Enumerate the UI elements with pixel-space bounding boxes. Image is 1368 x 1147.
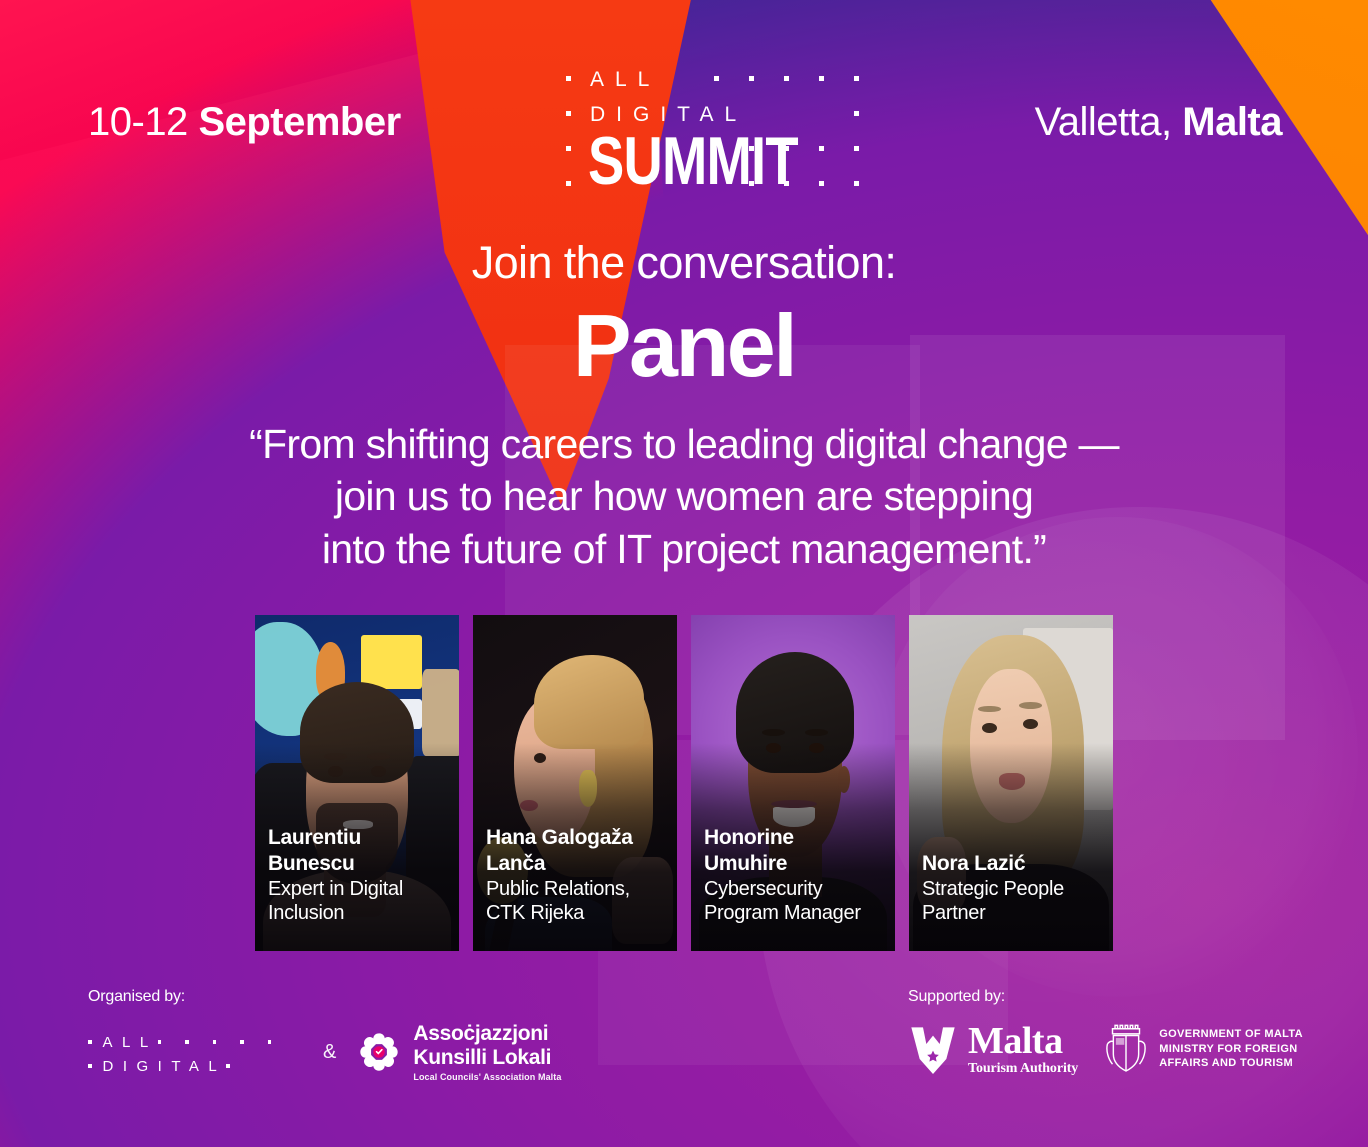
panel-quote-line-3: into the future of IT project management… <box>124 523 1244 575</box>
poster-header: 10-12 September Valletta, Malta <box>0 0 1368 215</box>
speaker-name-line-1: Honorine <box>704 826 885 850</box>
logo-dot <box>566 111 571 116</box>
speaker-card-list: Laurentiu Bunescu Expert in Digital Incl… <box>255 615 1113 951</box>
speaker-role-line-2: CTK Rijeka <box>486 901 667 925</box>
speaker-name-line-2: Lanča <box>486 852 667 876</box>
logo-dot <box>854 146 859 151</box>
akl-logo-line-2: Kunsilli Lokali <box>413 1046 561 1070</box>
summit-panel-poster: 10-12 September Valletta, Malta <box>0 0 1368 1147</box>
ampersand-separator: & <box>319 1041 340 1064</box>
logo-text-digital: DIGITAL <box>590 104 747 125</box>
logo-dot <box>714 76 719 81</box>
speaker-card[interactable]: Hana Galogaža Lanča Public Relations, CT… <box>473 615 677 951</box>
akl-logo-tagline: Local Councils' Association Malta <box>413 1072 561 1082</box>
logo-dot <box>158 1040 162 1044</box>
pinwheel-icon <box>356 1029 402 1075</box>
panel-quote-line-2: join us to hear how women are stepping <box>124 470 1244 522</box>
logo-dot <box>566 146 571 151</box>
akl-logo-line-1: Assoċjazzjoni <box>413 1022 561 1046</box>
speaker-card[interactable]: Nora Lazić Strategic People Partner <box>909 615 1113 951</box>
speaker-caption: Honorine Umuhire Cybersecurity Program M… <box>704 826 885 925</box>
logo-line-all: ALL <box>590 66 660 92</box>
logo-dot <box>819 146 824 151</box>
footer-supporters: Supported by: Malta Tourism Authority <box>908 988 1308 1076</box>
speaker-name-line-1: Hana Galogaža <box>486 826 667 850</box>
coat-of-arms-icon <box>1104 1022 1148 1076</box>
logo-dot <box>566 181 571 186</box>
speaker-role-line-2: Inclusion <box>268 901 449 925</box>
speaker-role-line-1: Cybersecurity <box>704 877 885 901</box>
logo-dot <box>240 1040 244 1044</box>
speaker-caption: Laurentiu Bunescu Expert in Digital Incl… <box>268 826 449 925</box>
logo-dot <box>88 1040 92 1044</box>
headline-kicker: Join the conversation: <box>472 237 897 289</box>
speaker-name-line-1: Nora Lazić <box>922 852 1103 876</box>
speaker-caption: Hana Galogaža Lanča Public Relations, CT… <box>486 826 667 925</box>
speaker-card[interactable]: Honorine Umuhire Cybersecurity Program M… <box>691 615 895 951</box>
speaker-name-line-1: Laurentiu <box>268 826 449 850</box>
supported-by-label: Supported by: <box>908 988 1308 1006</box>
logo-dot <box>854 181 859 186</box>
gov-logo-line-2: MINISTRY FOR FOREIGN <box>1159 1042 1303 1057</box>
speaker-role-line-1: Expert in Digital <box>268 877 449 901</box>
gov-logo-line-3: AFFAIRS AND TOURISM <box>1159 1056 1303 1071</box>
page-title: Panel <box>573 300 795 392</box>
maltese-emblem-icon <box>908 1022 958 1076</box>
logo-dot <box>268 1040 272 1044</box>
logo-dot <box>226 1064 230 1068</box>
panel-quote-line-1: “From shifting careers to leading digita… <box>124 418 1244 470</box>
logo-dot <box>749 76 754 81</box>
logo-text-digital: DIGITAL <box>103 1059 227 1074</box>
event-dates-month: September <box>198 100 400 144</box>
akl-logo: Assoċjazzjoni Kunsilli Lokali Local Coun… <box>356 1022 561 1082</box>
event-location-city: Valletta, <box>1035 100 1172 144</box>
logo-text-all: ALL <box>590 69 660 90</box>
all-digital-logo-small: ALL DIGITAL <box>88 1026 303 1078</box>
logo-dot <box>566 76 571 81</box>
speaker-role-line-1: Public Relations, <box>486 877 667 901</box>
logo-dot <box>784 76 789 81</box>
speaker-role-line-1: Strategic People <box>922 877 1103 901</box>
speaker-card[interactable]: Laurentiu Bunescu Expert in Digital Incl… <box>255 615 459 951</box>
event-location-country: Malta <box>1182 100 1282 144</box>
logo-dot <box>854 76 859 81</box>
event-location: Valletta, Malta <box>1035 102 1282 142</box>
organised-by-label: Organised by: <box>88 988 648 1006</box>
logo-text-all: ALL <box>103 1035 158 1050</box>
speaker-name-line-2: Umuhire <box>704 852 885 876</box>
logo-dot <box>819 181 824 186</box>
logo-text-summit: SUMMIT <box>588 130 798 193</box>
gov-logo-line-1: GOVERNMENT OF MALTA <box>1159 1027 1303 1042</box>
logo-dot <box>88 1064 92 1068</box>
logo-dot <box>213 1040 217 1044</box>
mta-logo-subtitle: Tourism Authority <box>968 1062 1078 1076</box>
logo-dot <box>854 111 859 116</box>
mta-logo-wordmark: Malta <box>968 1022 1078 1060</box>
speaker-caption: Nora Lazić Strategic People Partner <box>922 852 1103 925</box>
speaker-name-line-2: Bunescu <box>268 852 449 876</box>
logo-dot <box>185 1040 189 1044</box>
footer-organisers: Organised by: ALL <box>88 988 648 1082</box>
speaker-role-line-2: Partner <box>922 901 1103 925</box>
speaker-role-line-2: Program Manager <box>704 901 885 925</box>
logo-dot <box>819 76 824 81</box>
government-of-malta-logo: GOVERNMENT OF MALTA MINISTRY FOR FOREIGN… <box>1104 1022 1303 1076</box>
all-digital-summit-logo: ALL DIGITAL SUMMIT <box>566 58 896 203</box>
event-dates: 10-12 September <box>88 102 401 142</box>
malta-tourism-authority-logo: Malta Tourism Authority <box>908 1022 1078 1076</box>
event-dates-range: 10-12 <box>88 100 188 144</box>
panel-quote: “From shifting careers to leading digita… <box>124 418 1244 575</box>
